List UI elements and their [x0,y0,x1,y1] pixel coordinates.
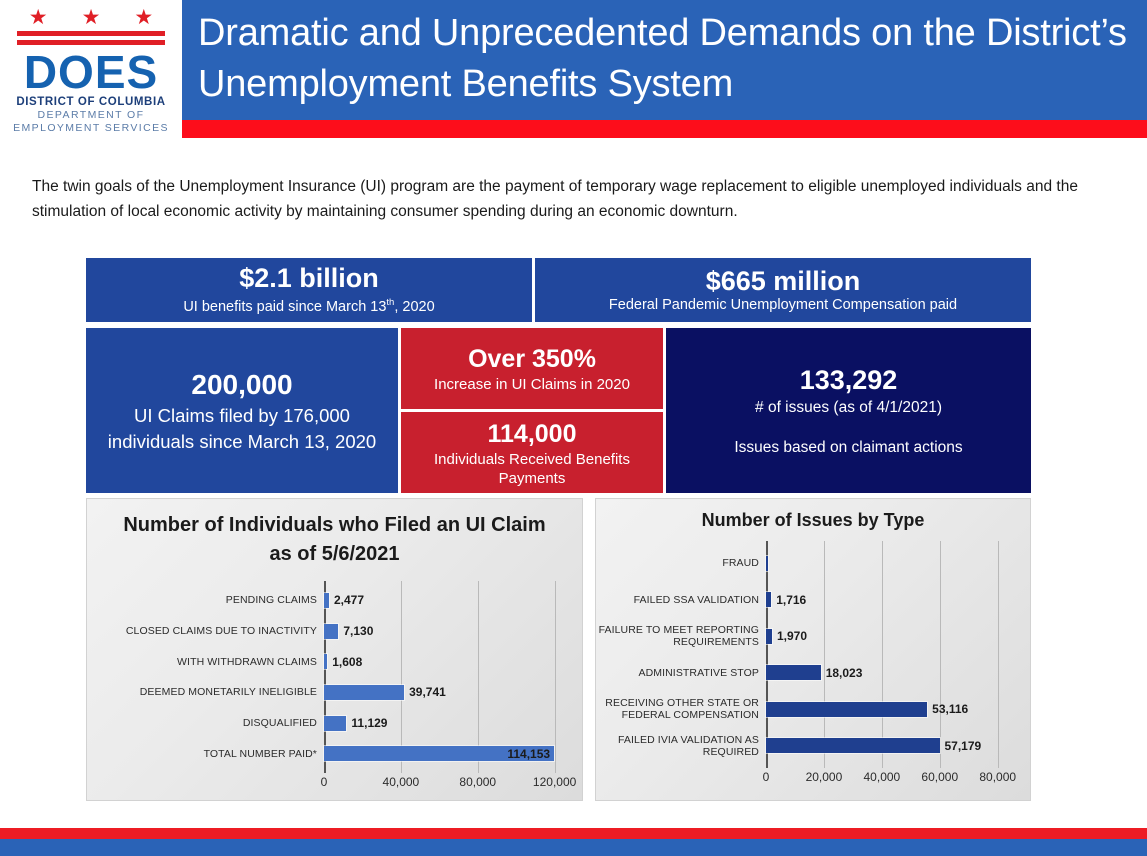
chart-bar-track: 2,477 [324,585,582,616]
slide-root: ★ ★ ★ DOES DISTRICT OF COLUMBIA DEPARTME… [0,0,1147,856]
stars-icon: ★ ★ ★ [29,10,153,26]
chart-x-tick-label: 60,000 [921,770,958,784]
chart-bar-track: 114,153 [324,738,582,769]
chart-category-label: CLOSED CLAIMS DUE TO INACTIVITY [87,625,324,637]
chart-category-label: ADMINISTRATIVE STOP [596,667,766,679]
stats-grid: $2.1 billion UI benefits paid since Marc… [86,258,1031,493]
chart-bar-row: FAILED SSA VALIDATION1,716 [596,582,1030,619]
chart-title: Number of Individuals who Filed an UI Cl… [87,499,582,569]
chart-category-label: DISQUALIFIED [87,717,324,729]
footer-red-band [0,828,1147,839]
chart-value-label: 39,741 [409,685,446,699]
stat-card-claims-increase: Over 350% Increase in UI Claims in 2020 [401,328,663,409]
chart-bar-track [766,545,1030,582]
stat-cards-red-column: Over 350% Increase in UI Claims in 2020 … [401,328,663,493]
chart-bar-row: FRAUD [596,545,1030,582]
stat-label-pre: UI benefits paid since March 13 [183,299,386,315]
chart-bar-row: CLOSED CLAIMS DUE TO INACTIVITY7,130 [87,616,582,647]
chart-card-individuals-filed: Number of Individuals who Filed an UI Cl… [86,498,583,801]
chart-x-tick-label: 40,000 [383,775,420,789]
footer-blue-band [0,839,1147,856]
chart-bar: 114,153 [324,746,554,761]
chart-x-tick-label: 120,000 [533,775,576,789]
chart-x-axis: 040,00080,000120,000 [324,775,570,801]
logo-wordmark: DOES [24,50,158,94]
chart-category-label: FAILURE TO MEET REPORTING REQUIREMENTS [596,624,766,648]
chart-bar-row: WITH WITHDRAWN CLAIMS1,608 [87,646,582,677]
chart-bar: 1,970 [766,629,772,644]
stat-label: Federal Pandemic Unemployment Compensati… [609,296,957,315]
page-title: Dramatic and Unprecedented Demands on th… [198,8,1138,110]
chart-value-label: 11,129 [351,716,387,730]
stat-card-individuals-received: 114,000 Individuals Received Benefits Pa… [401,412,663,493]
chart-plot-area: PENDING CLAIMS2,477CLOSED CLAIMS DUE TO … [87,581,582,801]
chart-category-label: FAILED IVIA VALIDATION AS REQUIRED [596,734,766,758]
chart-value-label: 7,130 [343,624,373,638]
chart-bar: 53,116 [766,702,927,717]
stat-label: UI Claims filed by 176,000 individuals s… [96,403,388,455]
chart-bar: 11,129 [324,716,346,731]
chart-title: Number of Issues by Type [596,499,1030,533]
stat-value: Over 350% [468,343,596,375]
chart-value-label: 2,477 [334,593,364,607]
stat-label-secondary: Issues based on claimant actions [734,437,962,459]
chart-bar-track: 11,129 [324,708,582,739]
chart-bar-track: 1,608 [324,646,582,677]
chart-bar: 39,741 [324,685,404,700]
chart-x-tick-label: 80,000 [979,770,1016,784]
chart-x-tick-label: 20,000 [806,770,843,784]
chart-value-label: 53,116 [932,702,968,716]
logo-stripe [17,40,165,45]
chart-category-label: DEEMED MONETARILY INELIGIBLE [87,686,324,698]
slide-header: ★ ★ ★ DOES DISTRICT OF COLUMBIA DEPARTME… [0,0,1147,145]
chart-category-label: WITH WITHDRAWN CLAIMS [87,656,324,668]
stat-value: 200,000 [191,367,292,403]
stat-card-fpuc-paid: $665 million Federal Pandemic Unemployme… [535,258,1031,322]
star-icon: ★ [29,10,48,26]
chart-category-label: FRAUD [596,557,766,569]
chart-bar: 18,023 [766,665,821,680]
chart-value-label: 1,608 [332,655,362,669]
chart-bar: 7,130 [324,624,338,639]
chart-bar: 1,608 [324,654,327,669]
chart-x-tick-label: 0 [763,770,770,784]
stat-value: 133,292 [800,363,898,397]
chart-bar-row: DEEMED MONETARILY INELIGIBLE39,741 [87,677,582,708]
stat-value: 114,000 [488,418,577,450]
chart-bar [766,556,768,571]
stat-card-ui-claims-filed: 200,000 UI Claims filed by 176,000 indiv… [86,328,398,493]
chart-bar-track: 7,130 [324,616,582,647]
chart-bar-row: FAILED IVIA VALIDATION AS REQUIRED57,179 [596,728,1030,765]
chart-category-label: PENDING CLAIMS [87,594,324,606]
chart-x-axis: 020,00040,00060,00080,000 [766,770,1018,796]
stat-label-post: , 2020 [394,299,434,315]
chart-x-tick-label: 80,000 [459,775,496,789]
logo-line-department: DEPARTMENT OF EMPLOYMENT SERVICES [13,109,169,134]
chart-plot-area: FRAUDFAILED SSA VALIDATION1,716FAILURE T… [596,541,1030,796]
star-icon: ★ [134,10,153,26]
chart-bar-row: DISQUALIFIED11,129 [87,708,582,739]
chart-bar-track: 18,023 [766,655,1030,692]
stats-bottom-row: 200,000 UI Claims filed by 176,000 indiv… [86,328,1031,493]
chart-bar: 57,179 [766,738,940,753]
chart-bar-row: TOTAL NUMBER PAID*114,153 [87,738,582,769]
logo-line-department-text: DEPARTMENT OF [38,109,145,121]
chart-x-tick-label: 40,000 [864,770,901,784]
does-logo: ★ ★ ★ DOES DISTRICT OF COLUMBIA DEPARTME… [0,0,182,145]
chart-bar-row: PENDING CLAIMS2,477 [87,585,582,616]
logo-line-services-text: EMPLOYMENT SERVICES [13,122,169,134]
stat-label: Increase in UI Claims in 2020 [434,375,630,394]
intro-paragraph: The twin goals of the Unemployment Insur… [32,174,1097,224]
chart-x-tick-label: 0 [321,775,328,789]
title-red-accent-bar [182,120,1147,138]
chart-bar-row: ADMINISTRATIVE STOP18,023 [596,655,1030,692]
stat-label-primary: # of issues (as of 4/1/2021) [755,397,942,419]
logo-stripe [17,31,165,36]
chart-value-label: 1,716 [776,593,806,607]
stat-label: Individuals Received Benefits Payments [407,450,657,488]
stat-value: $2.1 billion [239,263,379,293]
stats-top-row: $2.1 billion UI benefits paid since Marc… [86,258,1031,322]
chart-bar: 2,477 [324,593,329,608]
chart-bars: FRAUDFAILED SSA VALIDATION1,716FAILURE T… [596,545,1030,764]
chart-category-label: TOTAL NUMBER PAID* [87,748,324,760]
stat-card-number-of-issues: 133,292 # of issues (as of 4/1/2021) Iss… [666,328,1031,493]
chart-value-label: 1,970 [777,629,807,643]
chart-bar-track: 39,741 [324,677,582,708]
stat-card-benefits-paid: $2.1 billion UI benefits paid since Marc… [86,258,532,322]
chart-bar-track: 1,970 [766,618,1030,655]
logo-line-district: DISTRICT OF COLUMBIA [16,96,165,108]
stat-value: $665 million [706,266,861,296]
chart-card-issues-by-type: Number of Issues by Type FRAUDFAILED SSA… [595,498,1031,801]
chart-bar-row: RECEIVING OTHER STATE OR FEDERAL COMPENS… [596,691,1030,728]
title-banner: Dramatic and Unprecedented Demands on th… [182,0,1147,120]
chart-bar-row: FAILURE TO MEET REPORTING REQUIREMENTS1,… [596,618,1030,655]
chart-category-label: RECEIVING OTHER STATE OR FEDERAL COMPENS… [596,697,766,721]
chart-value-label: 57,179 [945,739,982,753]
chart-bar: 1,716 [766,592,771,607]
chart-value-label: 114,153 [507,747,550,761]
chart-category-label: FAILED SSA VALIDATION [596,594,766,606]
chart-bars: PENDING CLAIMS2,477CLOSED CLAIMS DUE TO … [87,585,582,769]
star-icon: ★ [82,10,101,26]
chart-bar-track: 57,179 [766,728,1030,765]
chart-bar-track: 1,716 [766,582,1030,619]
chart-bar-track: 53,116 [766,691,1030,728]
chart-value-label: 18,023 [826,666,863,680]
stat-label: UI benefits paid since March 13th, 2020 [183,293,434,317]
